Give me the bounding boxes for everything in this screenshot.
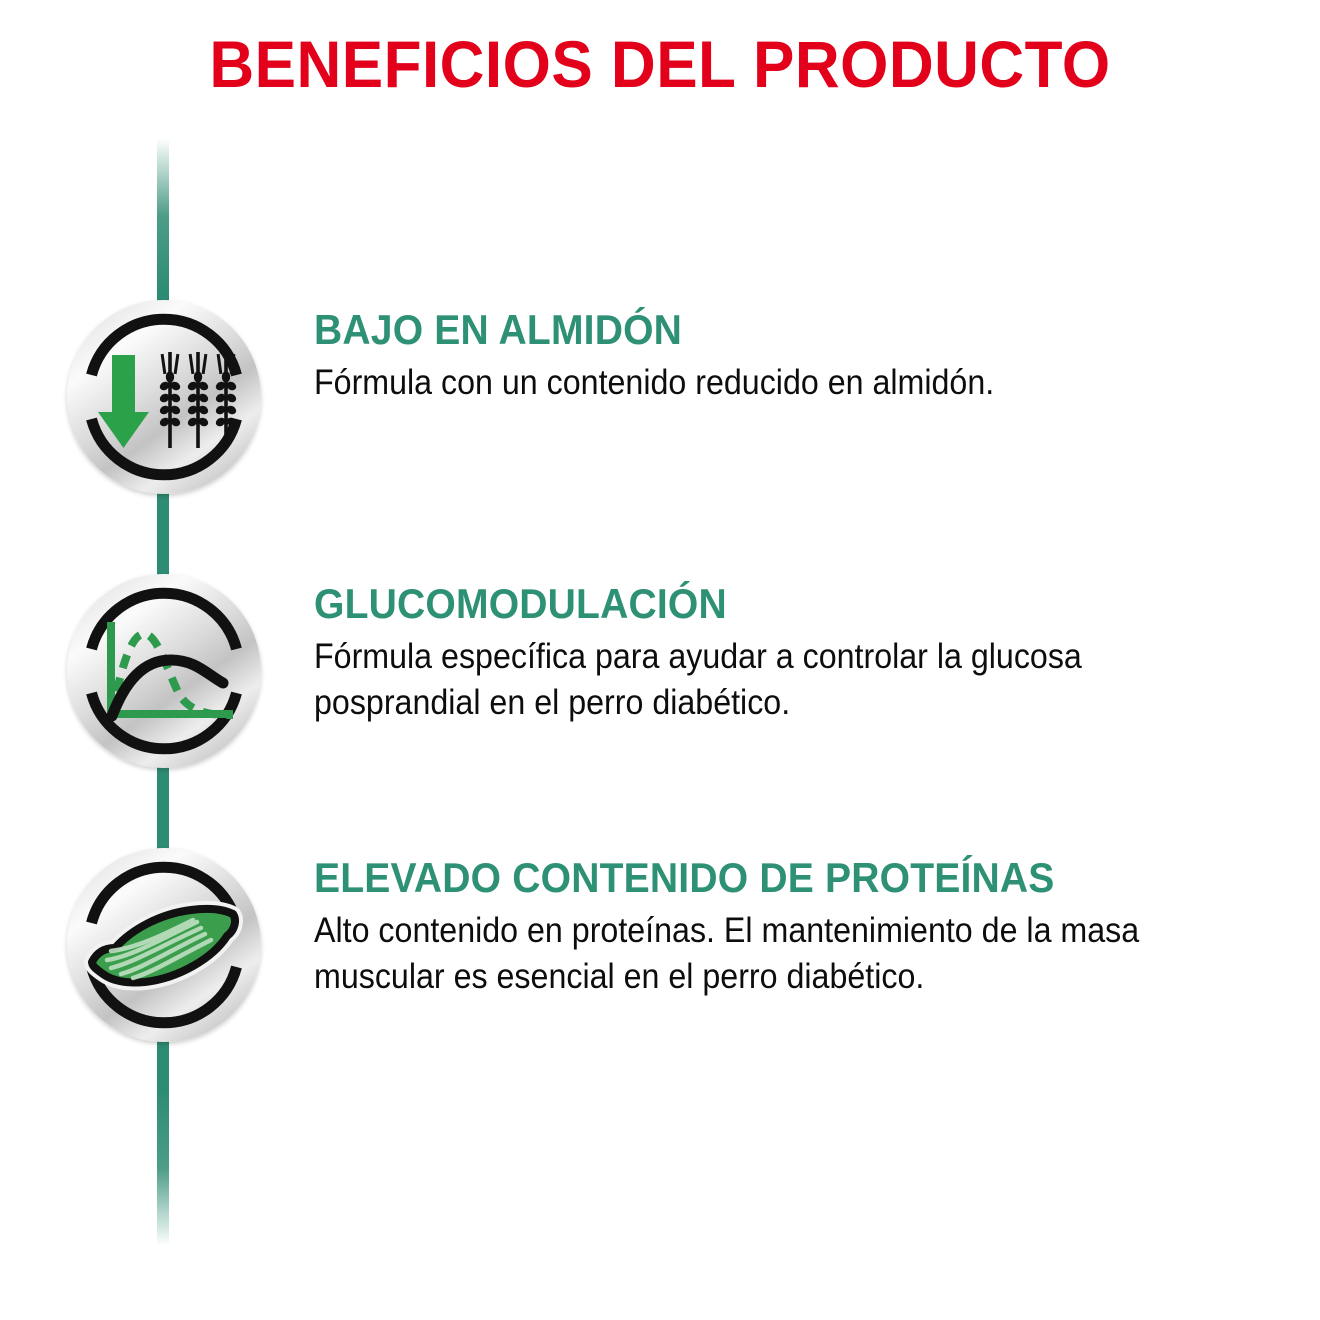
benefit-icon-medallion-1 [67, 300, 261, 494]
wheat-down-arrow-icon [67, 300, 261, 494]
wheat-stalks-glyph [158, 352, 237, 448]
benefit-body-2: Fórmula específica para ayudar a control… [314, 634, 1280, 726]
benefit-item-high-protein: ELEVADO CONTENIDO DE PROTEÍNAS Alto cont… [0, 848, 1320, 1048]
benefit-body-line: Fórmula con un contenido reducido en alm… [314, 360, 1280, 406]
benefit-body-3: Alto contenido en proteínas. El mantenim… [314, 908, 1280, 1000]
benefit-heading-1: BAJO EN ALMIDÓN [314, 306, 1225, 354]
benefit-body-line: Fórmula específica para ayudar a control… [314, 634, 1280, 680]
benefit-text-block-1: BAJO EN ALMIDÓN Fórmula con un contenido… [314, 306, 1294, 406]
glucose-curve-graph-icon [67, 574, 261, 768]
graph-axes [111, 622, 233, 718]
down-arrow-glyph [98, 355, 149, 448]
benefit-text-block-3: ELEVADO CONTENIDO DE PROTEÍNAS Alto cont… [314, 854, 1294, 1000]
benefit-heading-2: GLUCOMODULACIÓN [314, 580, 1225, 628]
muscle-fiber-icon [67, 848, 261, 1042]
benefit-icon-medallion-2 [67, 574, 261, 768]
page-title: BENEFICIOS DEL PRODUCTO [40, 26, 1281, 102]
benefit-body-line: muscular es esencial en el perro diabéti… [314, 954, 1280, 1000]
benefit-body-line: Alto contenido en proteínas. El mantenim… [314, 908, 1280, 954]
benefit-heading-3: ELEVADO CONTENIDO DE PROTEÍNAS [314, 854, 1225, 902]
benefit-item-glucomodulation: GLUCOMODULACIÓN Fórmula específica para … [0, 574, 1320, 774]
benefit-text-block-2: GLUCOMODULACIÓN Fórmula específica para … [314, 580, 1294, 726]
benefit-item-low-starch: BAJO EN ALMIDÓN Fórmula con un contenido… [0, 300, 1320, 500]
benefit-icon-medallion-3 [67, 848, 261, 1042]
benefit-body-line: posprandial en el perro diabético. [314, 680, 1280, 726]
benefit-body-1: Fórmula con un contenido reducido en alm… [314, 360, 1280, 406]
